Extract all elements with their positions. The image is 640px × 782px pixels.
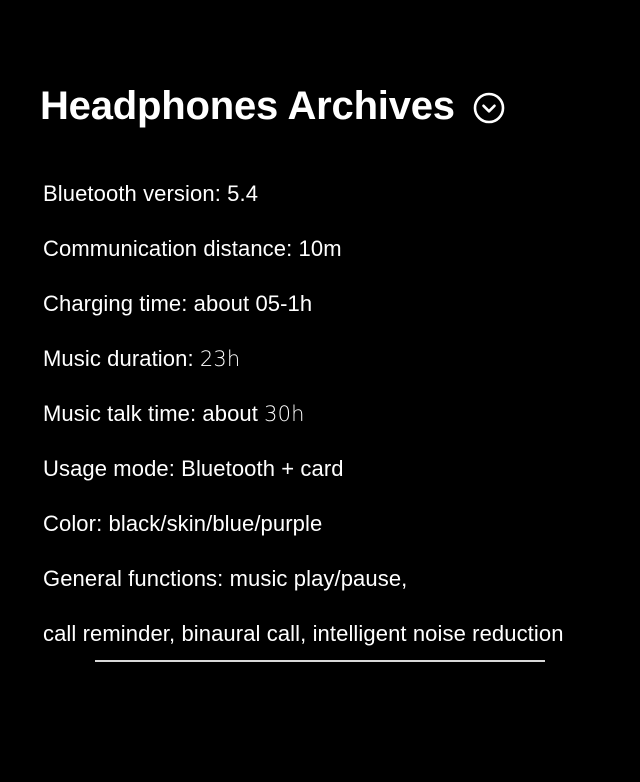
spec-line: Color: black/skin/blue/purple (43, 496, 633, 551)
spec-value: 5.4 (227, 181, 258, 206)
spec-line: Music talk time: about 30h (43, 386, 633, 441)
spec-label: General functions: (43, 566, 223, 591)
spec-value: music play/pause, (230, 566, 408, 591)
spec-line: Music duration: 23h (43, 331, 633, 386)
spec-line: General functions: music play/pause, (43, 551, 633, 606)
spec-label: Music duration: (43, 346, 194, 371)
spec-value: Bluetooth + card (181, 456, 343, 481)
spec-value: 05-1h (255, 291, 312, 316)
page-title: Headphones Archives (40, 86, 455, 126)
spec-label: Charging time: about (43, 291, 249, 316)
chevron-down-circle-icon[interactable] (472, 87, 506, 125)
spec-list: Bluetooth version: 5.4Communication dist… (43, 166, 633, 661)
spec-line: Bluetooth version: 5.4 (43, 166, 633, 221)
spec-line: Usage mode: Bluetooth + card (43, 441, 633, 496)
spec-line: Communication distance: 10m (43, 221, 633, 276)
spec-value: 30h (264, 402, 304, 426)
header: Headphones Archives (40, 78, 506, 134)
spec-value: 23h (200, 347, 240, 371)
spec-label: Usage mode: (43, 456, 175, 481)
product-spec-panel: Headphones Archives Bluetooth version: 5… (0, 0, 640, 782)
spec-label: call reminder, binaural call, intelligen… (43, 621, 564, 646)
spec-label: Communication distance: (43, 236, 292, 261)
spec-value: 10m (299, 236, 342, 261)
spec-label: Color: (43, 511, 102, 536)
spec-value: black/skin/blue/purple (109, 511, 323, 536)
spec-label: Music talk time: about (43, 401, 258, 426)
spec-line: Charging time: about 05-1h (43, 276, 633, 331)
divider (95, 660, 545, 662)
spec-label: Bluetooth version: (43, 181, 221, 206)
spec-line: call reminder, binaural call, intelligen… (43, 606, 633, 661)
